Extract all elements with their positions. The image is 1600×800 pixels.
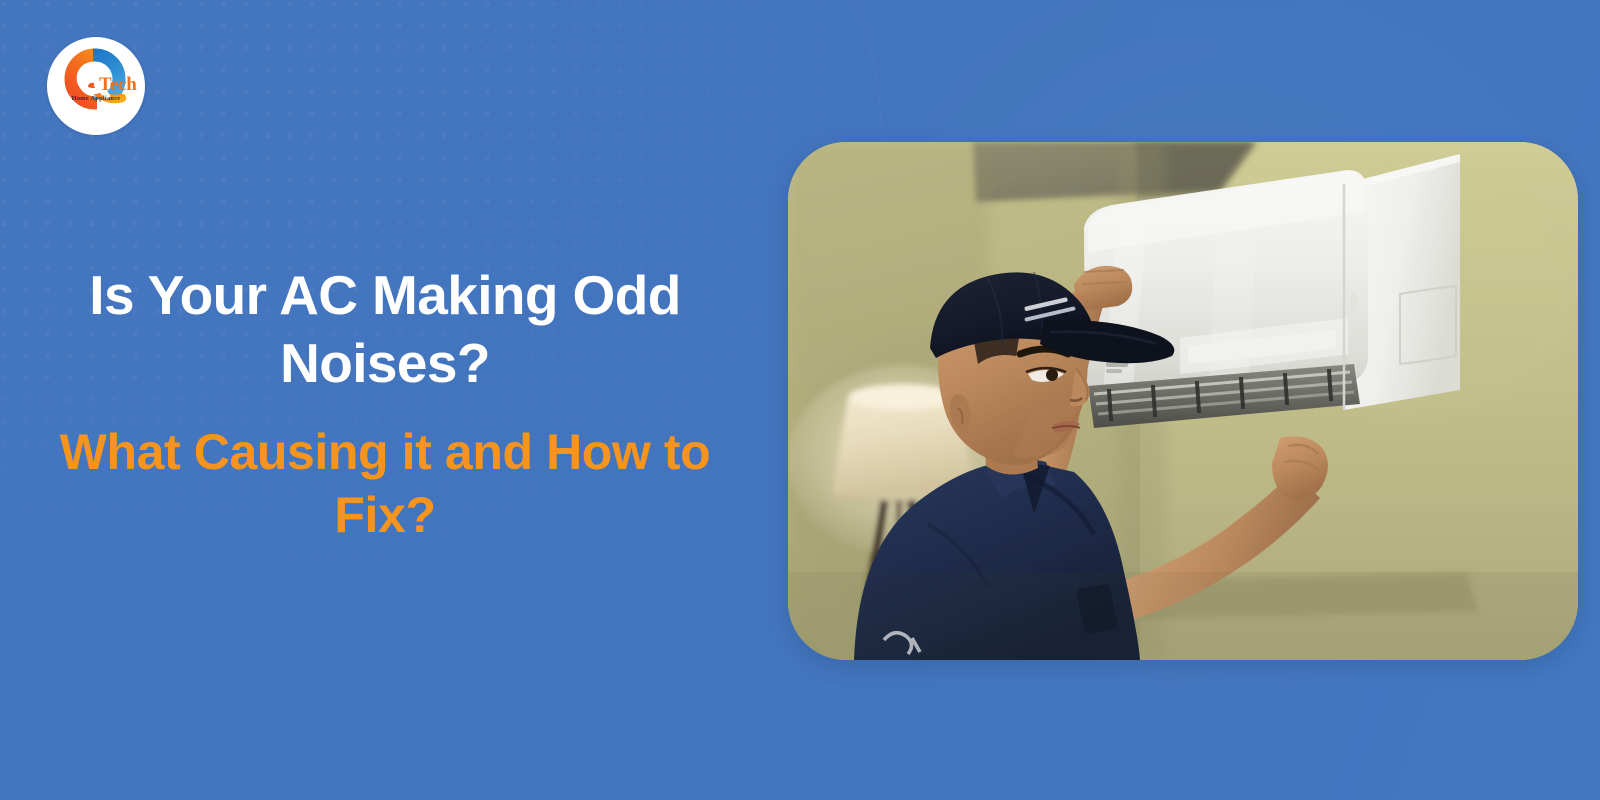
logo-wordmark: Tech bbox=[99, 75, 137, 94]
promo-banner: Tech Home Appliance Is Your AC Making Od… bbox=[0, 0, 1600, 800]
subheadline: What Causing it and How to Fix? bbox=[0, 421, 770, 547]
ac-technician-photo bbox=[788, 142, 1578, 660]
headline-block: Is Your AC Making Odd Noises? What Causi… bbox=[0, 262, 770, 547]
headline: Is Your AC Making Odd Noises? bbox=[0, 262, 770, 397]
photo-illustration bbox=[788, 142, 1578, 660]
qtech-logo[interactable]: Tech Home Appliance bbox=[47, 37, 145, 135]
logo-tagline: Home Appliance bbox=[47, 96, 145, 102]
